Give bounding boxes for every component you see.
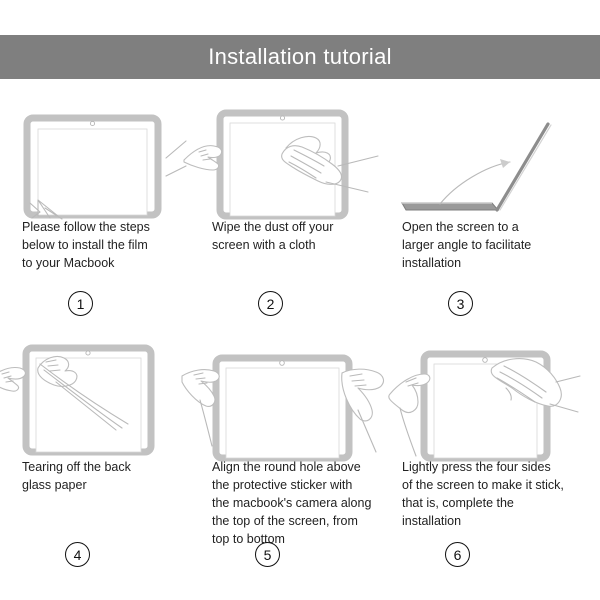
step-text-5: Align the round hole above the protectiv… [190, 458, 380, 548]
tablet-with-peeling-film-corner-icon [0, 100, 190, 218]
step-card-1: Please follow the steps below to install… [0, 100, 190, 340]
tablet-held-by-two-hands-aligning-icon [190, 340, 380, 458]
laptop-opening-screen-arrow-icon [380, 100, 580, 218]
step-card-2: Wipe the dust off your screen with a clo… [190, 100, 380, 340]
step-illustration-1 [0, 100, 190, 218]
step-card-6: Lightly press the four sides of the scre… [380, 340, 580, 580]
step-number-label-2: 2 [267, 296, 275, 312]
step-number-label-6: 6 [454, 547, 462, 563]
step-number-label-5: 5 [264, 547, 272, 563]
step-illustration-2 [190, 100, 380, 218]
step-number-badge-6: 6 [445, 542, 470, 567]
step-number-label-1: 1 [77, 296, 85, 312]
step-card-3: Open the screen to a larger angle to fac… [380, 100, 580, 340]
step-text-3: Open the screen to a larger angle to fac… [380, 218, 580, 272]
step-number-badge-2: 2 [258, 291, 283, 316]
step-text-6: Lightly press the four sides of the scre… [380, 458, 580, 530]
tablet-with-hand-wiping-cloth-icon [190, 100, 380, 218]
step-illustration-3 [380, 100, 580, 218]
page-title: Installation tutorial [208, 44, 392, 70]
step-text-1: Please follow the steps below to install… [0, 218, 190, 272]
step-number-badge-3: 3 [448, 291, 473, 316]
step-number-badge-4: 4 [65, 542, 90, 567]
step-text-2: Wipe the dust off your screen with a clo… [190, 218, 380, 254]
step-illustration-4 [0, 340, 190, 458]
step-card-5: Align the round hole above the protectiv… [190, 340, 380, 580]
step-number-label-3: 3 [457, 296, 465, 312]
step-number-badge-5: 5 [255, 542, 280, 567]
step-illustration-5 [190, 340, 380, 458]
step-text-4: Tearing off the back glass paper [0, 458, 190, 494]
tablet-with-hand-pressing-flat-icon [380, 340, 580, 458]
steps-grid: Please follow the steps below to install… [0, 100, 600, 580]
header-bar: Installation tutorial [0, 35, 600, 79]
step-number-badge-1: 1 [68, 291, 93, 316]
step-number-label-4: 4 [74, 547, 82, 563]
tablet-with-hands-peeling-back-paper-icon [0, 340, 190, 458]
step-card-4: Tearing off the back glass paper 4 [0, 340, 190, 580]
step-illustration-6 [380, 340, 580, 458]
